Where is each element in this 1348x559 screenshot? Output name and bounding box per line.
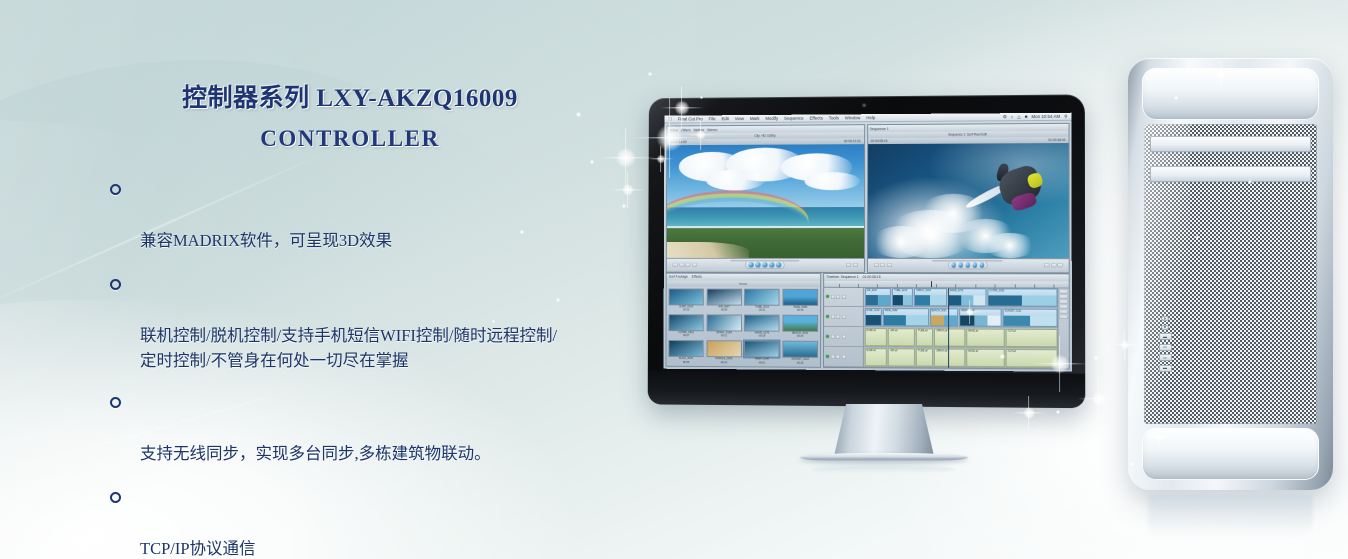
monitor-stand [800,404,968,474]
stand-reflection [812,466,956,473]
keyframe-icon[interactable] [1044,263,1049,267]
transport-cluster[interactable] [948,261,988,269]
clip-label: SPRAY.aif [935,329,964,332]
volume-icon[interactable]: ♪ [1011,114,1013,119]
timeline-body: AIR_0047 TUBE_0213 SPRAY_0154 [824,287,1069,368]
tower-handle-bottom [1142,428,1319,480]
list-item[interactable]: DUCK_0191 00:06 [668,340,703,364]
timeline-clip[interactable]: SUNSET_0122 [1003,308,1057,326]
cinema-display:  Final Cut Pro File Edit View Mark Modi… [645,96,1083,406]
track-enable-icon[interactable] [826,335,829,338]
clip-duration: 00:07 [668,334,703,338]
clip-thumbnail[interactable] [706,314,742,331]
clip-duration: 00:09 [706,308,741,312]
menu-item-view[interactable]: View [735,116,744,121]
clip-grid[interactable]: SURF_0102 00:12 AIR_0047 00:09 TUBE_0213 [666,286,820,367]
transport-side-left[interactable] [673,263,697,267]
menu-item-tools[interactable]: Tools [829,116,839,121]
clip-label: TUBE.aif [917,349,932,352]
list-item[interactable]: CUTBK_0310 00:07 [668,314,703,338]
loop-icon[interactable] [776,262,781,267]
clip-duration: 00:10 [744,361,780,365]
timeline-clip[interactable]: REEF_0248 [959,308,1001,326]
clip-duration: 00:18 [744,335,780,339]
page-title: 控制器系列 LXY-AKZQ16009 [0,78,700,114]
clip-label: WAVE_0276 [949,289,986,292]
track-header-a1[interactable] [824,327,863,347]
clip-duration: 00:11 [706,335,741,339]
insert-icon[interactable] [1051,263,1056,267]
play-icon[interactable] [769,262,774,267]
transport-side-right[interactable] [846,263,857,267]
menu-item-final-cut-pro[interactable]: Final Cut Pro [678,117,703,122]
power-icon[interactable]: ⏵ [1161,316,1169,321]
list-item: TCP/IP协议通信 [108,486,868,559]
play-in-to-out-icon[interactable] [755,262,760,267]
clip-label: WAVE.aif [967,329,1004,332]
hand-tool-icon[interactable] [1060,304,1068,308]
viewer-panel[interactable]: Video Filters Motion Stereo Clip: HD 108… [666,125,865,273]
list-item[interactable]: WAVE_0276 00:18 [744,314,780,338]
list-item[interactable]: SURF_0102 00:12 [669,288,704,312]
menu-item-file[interactable]: File [709,116,716,121]
mark-out-icon[interactable] [880,263,885,267]
optical-drive-slot[interactable] [1150,166,1311,182]
clip-label: WIDE_0088 [884,309,928,312]
clip-label: TUBE.aif [917,329,932,332]
clip-thumbnail[interactable] [669,288,704,305]
tab-effects[interactable]: Effects [692,275,702,279]
clip-label: CUT.aif [1007,350,1056,353]
list-item[interactable]: WIDE_0088 00:15 [782,288,818,312]
clip-label: SURF_0102 [865,309,880,312]
list-item[interactable]: SPRAY_0154 00:11 [706,314,742,338]
video-editor-app:  Final Cut Pro File Edit View Mark Modi… [663,113,1071,372]
clip-label: SURF.aif [865,329,886,332]
timeline-clip[interactable]: WAVE_0276 [948,288,987,306]
tower-case: ⏵ ● ▬ ▭ ▭ ▬ [1128,58,1333,490]
timeline-clip[interactable]: WIDE_0088 [883,308,929,326]
timeline-clip[interactable]: CUT.aif [1006,329,1057,347]
track-row-a2[interactable]: SURF.aif AIR.aif TUBE.aif SPRAY.aif WAVE… [864,347,1058,368]
selection-tool-icon[interactable] [1060,289,1068,293]
timeline-clip[interactable]: TUBE.aif [916,328,933,346]
crop-tool-icon[interactable] [1060,309,1068,313]
menu-item-modify[interactable]: Modify [765,116,778,121]
canvas-panel[interactable]: Sequence 1 Sequence 1: Surf Reel Edit 00… [866,123,1069,273]
match-frame-icon[interactable] [673,263,678,267]
track-auto-icon[interactable] [841,315,845,319]
track-header-v1[interactable] [824,307,863,327]
list-item[interactable]: AIR_0047 00:09 [706,288,742,312]
timeline-tool-palette[interactable] [1058,288,1069,369]
track-lock-icon[interactable] [841,355,845,359]
mark-out-icon[interactable] [692,263,697,267]
timeline-clip[interactable]: BEACH_0031 [929,308,958,326]
pen-tool-icon[interactable] [1060,314,1068,318]
clip-duration: 00:15 [782,309,818,313]
clip-label: CUT.aif [1007,330,1056,333]
feature-text: 支持无线同步，实现多台同步,多栋建筑物联动。 [140,444,491,463]
scrubber-bar[interactable] [932,260,1003,262]
timeline-clip[interactable]: SURF.aif [864,348,887,366]
apple-icon[interactable]:  [668,116,672,122]
timeline-clip[interactable]: SPRAY.aif [934,328,965,346]
viewer-canvas-left[interactable] [667,145,864,258]
viewer-transport-left[interactable] [667,257,864,271]
tab-motion[interactable]: Motion [694,128,705,132]
bluetooth-icon[interactable]: ⚙ [1003,114,1007,120]
play-around-icon[interactable] [762,262,767,267]
menu-item-mark[interactable]: Mark [750,116,760,121]
play-icon[interactable] [972,262,978,268]
menu-item-edit[interactable]: Edit [721,116,728,121]
timeline-clip[interactable]: AIR_0047 [864,288,891,306]
clip-label: AIR.aif [889,349,914,352]
zoom-tool-icon[interactable] [1060,299,1068,303]
stand-neck [834,404,934,456]
track-visibility-icon[interactable] [836,315,840,319]
timeline-clip[interactable]: TUBE_0213 [892,288,913,306]
timeline-clip[interactable]: CUTBK_0310 [987,288,1057,306]
add-marker-icon[interactable] [886,263,891,267]
mac-pro-tower: ⏵ ● ▬ ▭ ▭ ▬ [1128,58,1333,490]
add-marker-icon[interactable] [679,263,684,267]
tower-port-cluster[interactable]: ⏵ ● ▬ ▭ ▭ ▬ [1154,316,1176,372]
list-item[interactable]: TUBE_0213 00:21 [744,288,780,312]
track-enable-icon[interactable] [826,295,829,298]
track-solo-icon[interactable] [836,355,840,359]
track-lock-icon[interactable] [831,315,835,319]
browser-panel[interactable]: Surf Footage Effects Name SURF_0102 00:1… [665,272,821,368]
mark-in-icon[interactable] [685,263,690,267]
scrubber-bar[interactable] [730,259,799,261]
tab-surf-footage[interactable]: Surf Footage [669,275,688,279]
bullet-ring-icon [110,184,121,195]
go-to-start-icon[interactable] [951,262,957,268]
clip-label: TUBE_0213 [893,289,912,292]
clip-label: AIR.aif [889,329,914,332]
clip-label: SUNSET_0122 [1004,309,1056,312]
rainbow-coastline-image [667,145,864,258]
clip-duration: 00:19 [782,361,818,365]
menu-item-window[interactable]: Window [845,115,861,120]
playhead[interactable] [931,281,932,287]
audio-jack-icon[interactable]: ● [1161,325,1169,330]
tab-video[interactable]: Video [669,128,678,132]
clip-thumbnail[interactable] [706,288,742,305]
promo-banner: 控制器系列 LXY-AKZQ16009 CONTROLLER 兼容MADRIX软… [0,0,1348,559]
loop-icon[interactable] [979,262,985,268]
track-solo-icon[interactable] [836,335,840,339]
title-block: 控制器系列 LXY-AKZQ16009 CONTROLLER [0,78,700,152]
timeline-clip[interactable]: WAVE.aif [966,328,1005,346]
stand-base [800,453,968,462]
clip-duration: 00:24 [782,335,818,339]
timeline-clip[interactable]: SURF_0102 [864,308,881,326]
play-in-to-out-icon[interactable] [958,262,964,268]
timecode-in[interactable]: 00:00:14:09 [670,141,686,145]
list-item[interactable]: REEF_0248 00:10 [744,341,780,365]
display-screen:  Final Cut Pro File Edit View Mark Modi… [663,113,1071,372]
usb-port[interactable]: ▭ [1159,354,1172,361]
go-to-start-icon[interactable] [748,262,753,267]
track-enable-icon[interactable] [826,355,829,358]
track-headers[interactable] [824,287,864,367]
tab-filters[interactable]: Filters [681,128,691,132]
mark-in-icon[interactable] [873,263,878,267]
canvas-transport-right[interactable] [867,258,1068,272]
lower-row: Surf Footage Effects Name SURF_0102 00:1… [663,272,1071,371]
clip-thumbnail[interactable] [744,341,780,358]
clip-thumbnail[interactable] [668,340,703,357]
timeline-clip[interactable]: SPRAY.aif [934,348,965,366]
clip-label: WAVE.aif [967,349,1004,352]
tab-timeline[interactable]: Timeline: Sequence 1 [826,275,859,279]
usb-port[interactable]: ▭ [1159,344,1172,351]
clip-label: SURF.aif [865,349,886,352]
clip-thumbnail[interactable] [782,288,818,305]
timecode-out[interactable]: 01:00:18:00 [1048,138,1065,142]
viewer-canvas-right[interactable] [867,143,1068,257]
timeline-panel[interactable]: Timeline: Sequence 1 01:00:08:15 [823,272,1070,369]
track-row-v2[interactable]: AIR_0047 TUBE_0213 SPRAY_0154 [864,288,1058,309]
timecode-in[interactable]: 00:00:08:15 [871,139,888,143]
track-visibility-icon[interactable] [836,295,840,299]
clip-label: BEACH_0031 [931,309,958,312]
clip-duration: 00:21 [744,309,780,313]
menu-item-effects[interactable]: Effects [810,116,823,121]
clip-duration: 00:12 [669,308,704,312]
track-row-a1[interactable]: SURF.aif AIR.aif TUBE.aif SPRAY.aif WAVE… [864,327,1058,348]
timecode-out[interactable]: 00:00:21:02 [844,140,861,144]
clip-thumbnail[interactable] [706,340,742,357]
feature-text: 联机控制/脱机控制/支持手机短信WIFI控制/随时远程控制/ 定时控制/不管身在… [140,326,557,370]
firewire-port[interactable]: ▬ [1159,333,1172,340]
timeline-clip[interactable]: AIR.aif [888,328,915,346]
wifi-icon[interactable]: △ [1017,114,1020,120]
search-icon[interactable]: ⚲ [1064,113,1067,119]
keyframe-icon[interactable] [846,263,851,267]
transport-cluster[interactable] [745,261,784,269]
page-subtitle: CONTROLLER [0,126,700,152]
bullet-ring-icon [110,279,121,290]
clip-thumbnail[interactable] [782,341,818,358]
clip-label: CUTBK_0310 [988,289,1056,292]
clip-label: REEF_0248 [960,309,1000,312]
feature-text: 兼容MADRIX软件，可呈现3D效果 [140,231,392,250]
playhead[interactable] [949,288,950,368]
bullet-ring-icon [110,397,121,408]
clip-label: SPRAY_0154 [915,289,946,292]
overwrite-icon[interactable] [1057,263,1062,267]
clip-thumbnail[interactable] [782,315,818,332]
timeline-clip[interactable]: SURF.aif [864,328,887,346]
clip-label: AIR_0047 [865,289,890,292]
feature-text: TCP/IP协议通信 [140,539,256,558]
firewire-port[interactable]: ▬ [1159,365,1172,372]
display-chin [648,371,1086,409]
track-mute-icon[interactable] [831,335,835,339]
transport-side-left[interactable] [873,263,891,267]
list-item[interactable]: SUNSET_0122 00:19 [782,341,818,365]
timeline-clip[interactable]: AIR.aif [888,348,915,366]
track-header-v2[interactable] [824,287,863,307]
insert-icon[interactable] [853,263,858,267]
timeline-clip[interactable]: SPRAY_0154 [914,288,947,306]
track-mute-icon[interactable] [830,354,834,358]
optical-drive-slot[interactable] [1150,136,1311,152]
timeline-clip[interactable]: TUBE.aif [916,348,933,366]
clip-duration: 00:13 [706,361,742,365]
tab-stereo[interactable]: Stereo [707,128,717,132]
webcam-icon [862,103,866,107]
transport-side-right[interactable] [1044,263,1062,267]
battery-icon[interactable]: ■ [1025,114,1028,119]
clip-thumbnail[interactable] [744,288,780,305]
list-item[interactable]: PADDLE_0065 00:13 [706,340,742,364]
track-lock-icon[interactable] [831,295,835,299]
timeline-timecode[interactable]: 01:00:08:15 [863,275,881,279]
viewer-row: Video Filters Motion Stereo Clip: HD 108… [664,121,1072,273]
tower-reflection [1148,494,1313,546]
timeline-clip[interactable]: WAVE.aif [966,348,1005,366]
menubar-clock[interactable]: Mon 10:54 AM [1031,114,1060,119]
clip-label: SPRAY.aif [935,349,964,352]
track-lanes[interactable]: AIR_0047 TUBE_0213 SPRAY_0154 [864,288,1058,369]
surfer-image [867,143,1068,257]
track-enable-icon[interactable] [826,315,829,318]
tower-handle-top [1142,68,1319,120]
track-lock-icon[interactable] [841,335,845,339]
track-header-a2[interactable] [824,347,863,367]
list-item[interactable]: BEACH_0031 00:24 [782,315,818,339]
play-around-icon[interactable] [965,262,971,268]
clip-duration: 00:06 [668,360,703,364]
bullet-ring-icon [110,492,121,503]
clip-thumbnail[interactable] [744,314,780,331]
track-row-v1[interactable]: SURF_0102 WIDE_0088 BEACH_0031 [864,307,1058,328]
razor-tool-icon[interactable] [1060,294,1068,298]
menu-item-sequence[interactable]: Sequence [784,116,804,121]
track-auto-icon[interactable] [842,295,846,299]
timeline-clip[interactable]: CUT.aif [1006,349,1057,367]
clip-thumbnail[interactable] [668,314,703,331]
menu-item-help[interactable]: Help [866,115,875,120]
tab-sequence[interactable]: Sequence 1 [870,127,889,131]
